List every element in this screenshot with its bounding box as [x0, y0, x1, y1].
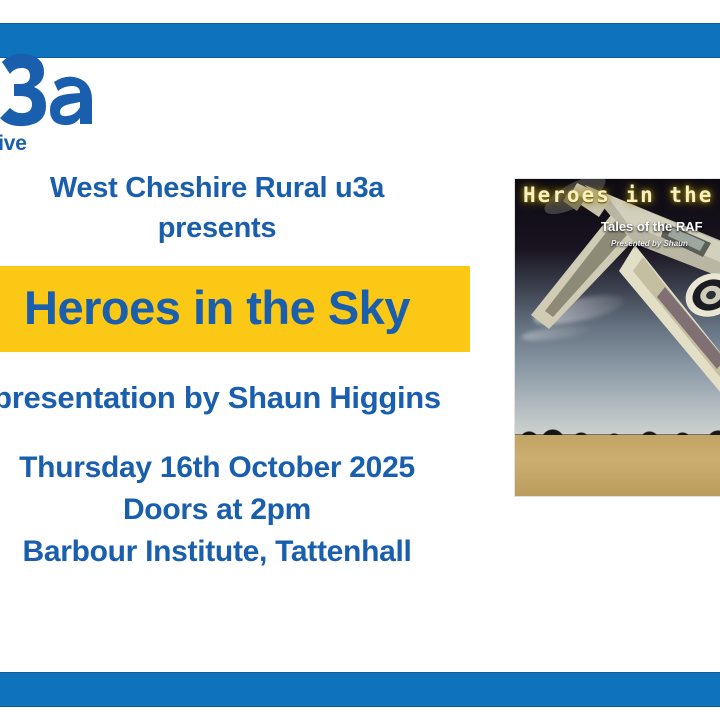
- event-details: Thursday 16th October 2025 Doors at 2pm …: [0, 447, 470, 573]
- org-line-1: West Cheshire Rural u3a: [0, 168, 470, 208]
- artwork-headline: Heroes in the: [523, 183, 713, 207]
- talk-cover-image: Heroes in the Tales of the RAF Presented…: [514, 178, 720, 497]
- poster-text-column: West Cheshire Rural u3a presents Heroes …: [0, 168, 470, 573]
- event-poster: gh, live West Cheshire Rural u3a present…: [0, 0, 720, 720]
- u3a-tagline: gh, live: [0, 132, 27, 156]
- artwork-credit: Presented by Shaun: [611, 239, 688, 248]
- u3a-logo-icon: [0, 52, 94, 132]
- top-accent-bar: [0, 23, 720, 58]
- u3a-logo: gh, live: [0, 52, 94, 160]
- event-doors-time: Doors at 2pm: [0, 489, 470, 531]
- title-banner: Heroes in the Sky: [0, 266, 470, 352]
- event-byline: presentation by Shaun Higgins: [0, 377, 470, 419]
- event-venue: Barbour Institute, Tattenhall: [0, 531, 470, 573]
- event-title: Heroes in the Sky: [0, 282, 470, 334]
- artwork-subtitle: Tales of the RAF: [601, 219, 703, 234]
- event-date: Thursday 16th October 2025: [0, 447, 470, 489]
- bottom-accent-bar: [0, 672, 720, 707]
- org-line-2: presents: [0, 208, 470, 248]
